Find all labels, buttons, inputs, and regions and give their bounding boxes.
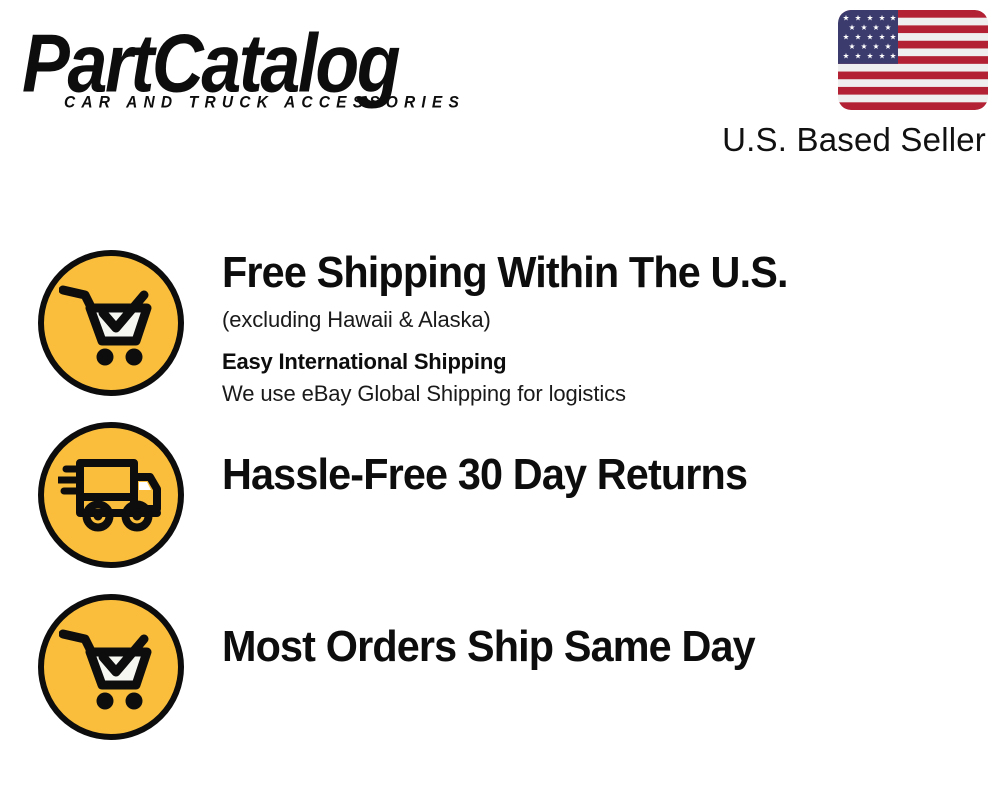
list-item: Hassle-Free 30 Day Returns: [0, 400, 1000, 572]
feature-text-block: Hassle-Free 30 Day Returns: [222, 400, 1000, 500]
brand-logo-tagline: CAR AND TRUCK ACCESSORIES: [64, 94, 465, 113]
brand-logo[interactable]: PartCatalog CAR AND TRUCK ACCESSORIES: [22, 22, 492, 118]
list-item: Free Shipping Within The U.S. (excluding…: [0, 228, 1000, 400]
feature-heading: Free Shipping Within The U.S.: [222, 248, 953, 298]
delivery-truck-icon: [38, 422, 184, 568]
shopping-cart-check-icon: [38, 250, 184, 396]
feature-subheading: Easy International Shipping: [222, 346, 1000, 378]
feature-text-block: Free Shipping Within The U.S. (excluding…: [222, 228, 1000, 410]
list-item: Most Orders Ship Same Day: [0, 572, 1000, 744]
feature-icon-wrap: [0, 228, 222, 396]
feature-text-block: Most Orders Ship Same Day: [222, 572, 1000, 672]
us-flag-icon: [838, 10, 988, 110]
feature-list: Free Shipping Within The U.S. (excluding…: [0, 228, 1000, 744]
feature-note: (excluding Hawaii & Alaska): [222, 304, 1000, 336]
feature-heading: Hassle-Free 30 Day Returns: [222, 450, 953, 500]
us-based-seller-label: U.S. Based Seller: [688, 121, 988, 159]
feature-icon-wrap: [0, 400, 222, 568]
brand-logo-wordmark: PartCatalog: [22, 22, 478, 105]
feature-heading: Most Orders Ship Same Day: [222, 622, 953, 672]
shipping-info-banner: PartCatalog CAR AND TRUCK ACCESSORIES: [0, 0, 1000, 800]
us-based-seller-badge: U.S. Based Seller: [688, 10, 988, 159]
shopping-cart-check-icon: [38, 594, 184, 740]
feature-icon-wrap: [0, 572, 222, 740]
